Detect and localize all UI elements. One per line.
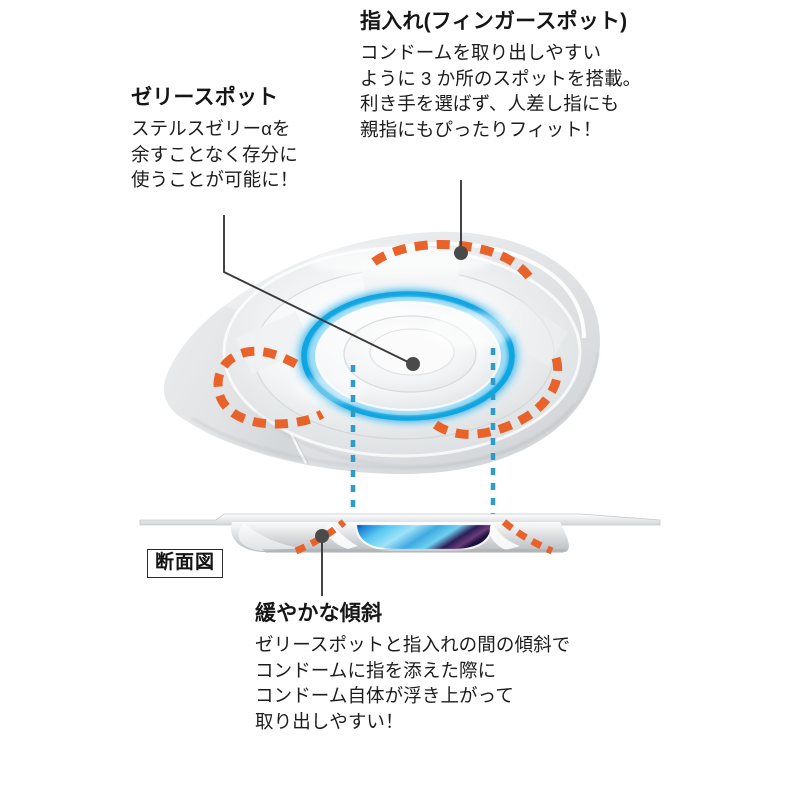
callout-gentle-slope-line-3: コンドーム自体が浮き上がって bbox=[255, 683, 570, 709]
callout-jelly-spot-line-3: 使うことが可能に！ bbox=[131, 167, 298, 193]
callout-finger-spot-line-1: コンドームを取り出しやすい bbox=[360, 40, 641, 66]
section-jelly-basin bbox=[356, 524, 492, 550]
callout-finger-spot-line-4: 親指にもぴったりフィット！ bbox=[360, 117, 641, 143]
callout-gentle-slope-line-2: コンドームに指を添えた際に bbox=[255, 658, 570, 684]
callout-gentle-slope-line-4: 取り出しやすい！ bbox=[255, 709, 570, 735]
callout-finger-spot-title: 指入れ(フィンガースポット) bbox=[360, 10, 641, 34]
tray-cross-section bbox=[140, 514, 660, 553]
callout-jelly-spot: ゼリースポット ステルスゼリーαを 余すことなく存分に 使うことが可能に！ bbox=[131, 86, 298, 193]
tray-top-view bbox=[164, 232, 600, 474]
figure-canvas: ゼリースポット ステルスゼリーαを 余すことなく存分に 使うことが可能に！ 指入… bbox=[0, 0, 800, 800]
leader-dot-gentle-slope bbox=[315, 529, 329, 543]
section-bottom-shade bbox=[262, 549, 566, 553]
callout-gentle-slope-line-1: ゼリースポットと指入れの間の傾斜で bbox=[255, 632, 570, 658]
callout-gentle-slope-title: 緩やかな傾斜 bbox=[255, 602, 570, 626]
callout-gentle-slope: 緩やかな傾斜 ゼリースポットと指入れの間の傾斜で コンドームに指を添えた際に コ… bbox=[255, 602, 570, 734]
callout-finger-spot-line-3: 利き手を選ばず、人差し指にも bbox=[360, 91, 641, 117]
callout-jelly-spot-body: ステルスゼリーαを 余すことなく存分に 使うことが可能に！ bbox=[131, 116, 298, 193]
callout-jelly-spot-title: ゼリースポット bbox=[131, 86, 298, 110]
cross-section-label: 断面図 bbox=[147, 549, 223, 578]
callout-gentle-slope-body: ゼリースポットと指入れの間の傾斜で コンドームに指を添えた際に コンドーム自体が… bbox=[255, 632, 570, 734]
leader-dot-jelly-spot bbox=[406, 357, 420, 371]
callout-jelly-spot-line-2: 余すことなく存分に bbox=[131, 142, 298, 168]
callout-finger-spot-line-2: ように 3 か所のスポットを搭載。 bbox=[360, 66, 641, 92]
bowl-specular-a bbox=[426, 312, 514, 348]
callout-finger-spot-body: コンドームを取り出しやすい ように 3 か所のスポットを搭載。 利き手を選ばず、… bbox=[360, 40, 641, 142]
callout-finger-spot: 指入れ(フィンガースポット) コンドームを取り出しやすい ように 3 か所のスポ… bbox=[360, 10, 641, 142]
callout-jelly-spot-line-1: ステルスゼリーαを bbox=[131, 116, 298, 142]
leader-dot-finger-spot bbox=[454, 246, 468, 260]
